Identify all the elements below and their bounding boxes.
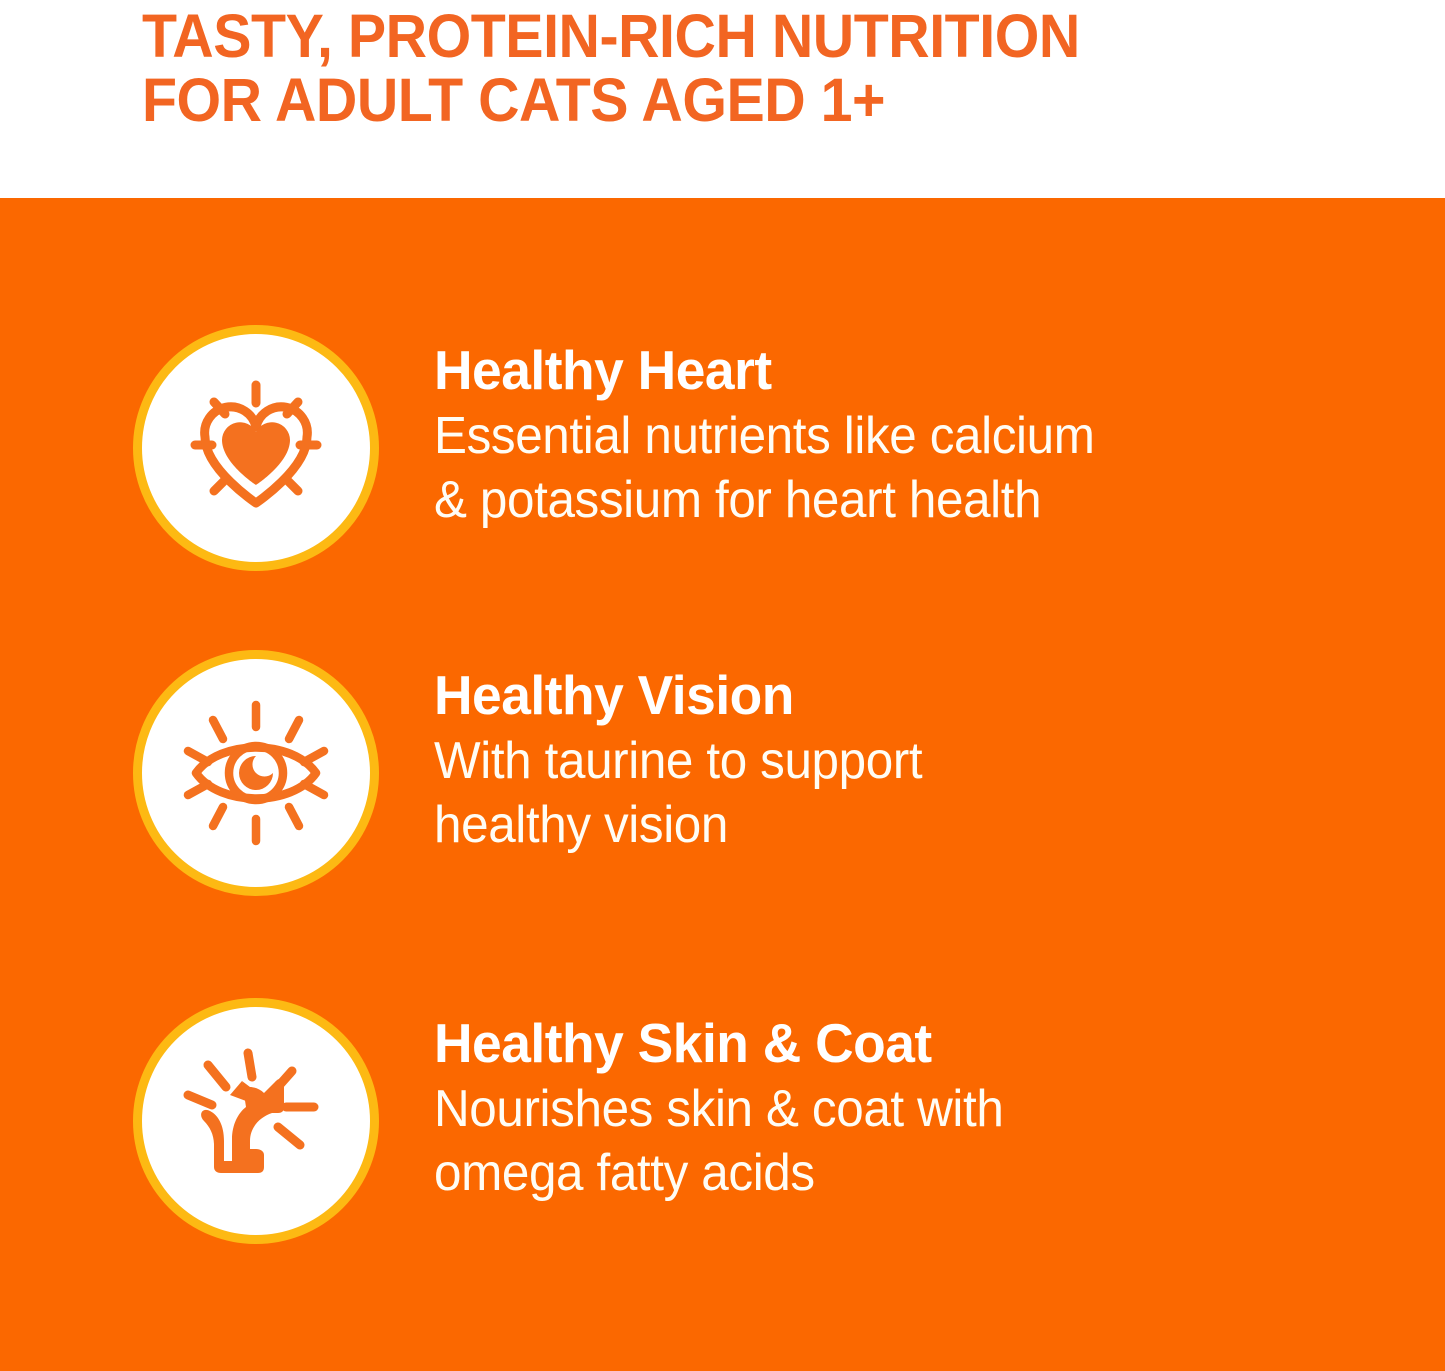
benefit-item-healthy-skin-coat: Healthy Skin & Coat Nourishes skin & coa…: [0, 998, 1445, 1244]
benefit-description: Nourishes skin & coat with omega fatty a…: [434, 1077, 1003, 1205]
product-benefits-infographic: TASTY, PROTEIN-RICH NUTRITION FOR ADULT …: [0, 0, 1445, 1371]
eye-rays-icon-badge: [133, 650, 379, 896]
benefit-heading: Healthy Vision: [434, 664, 933, 726]
benefit-text-block: Healthy Vision With taurine to support h…: [434, 650, 948, 857]
cat-rays-icon: [180, 1045, 332, 1197]
benefit-item-healthy-heart: Healthy Heart Essential nutrients like c…: [0, 325, 1445, 571]
benefits-panel: Healthy Heart Essential nutrients like c…: [0, 198, 1445, 1371]
page-title: TASTY, PROTEIN-RICH NUTRITION FOR ADULT …: [142, 4, 1308, 132]
benefit-text-block: Healthy Heart Essential nutrients like c…: [434, 325, 1129, 532]
heart-rays-icon: [181, 373, 331, 523]
benefit-heading: Healthy Skin & Coat: [434, 1012, 1015, 1074]
benefit-item-healthy-vision: Healthy Vision With taurine to support h…: [0, 650, 1445, 896]
eye-rays-icon: [180, 697, 332, 849]
cat-rays-icon-badge: [133, 998, 379, 1244]
banner: TASTY, PROTEIN-RICH NUTRITION FOR ADULT …: [0, 0, 1445, 198]
benefit-description: With taurine to support healthy vision: [434, 729, 922, 857]
benefit-description: Essential nutrients like calcium & potas…: [434, 404, 1095, 532]
benefit-text-block: Healthy Skin & Coat Nourishes skin & coa…: [434, 998, 1033, 1205]
heart-rays-icon-badge: [133, 325, 379, 571]
benefit-heading: Healthy Heart: [434, 339, 1108, 401]
